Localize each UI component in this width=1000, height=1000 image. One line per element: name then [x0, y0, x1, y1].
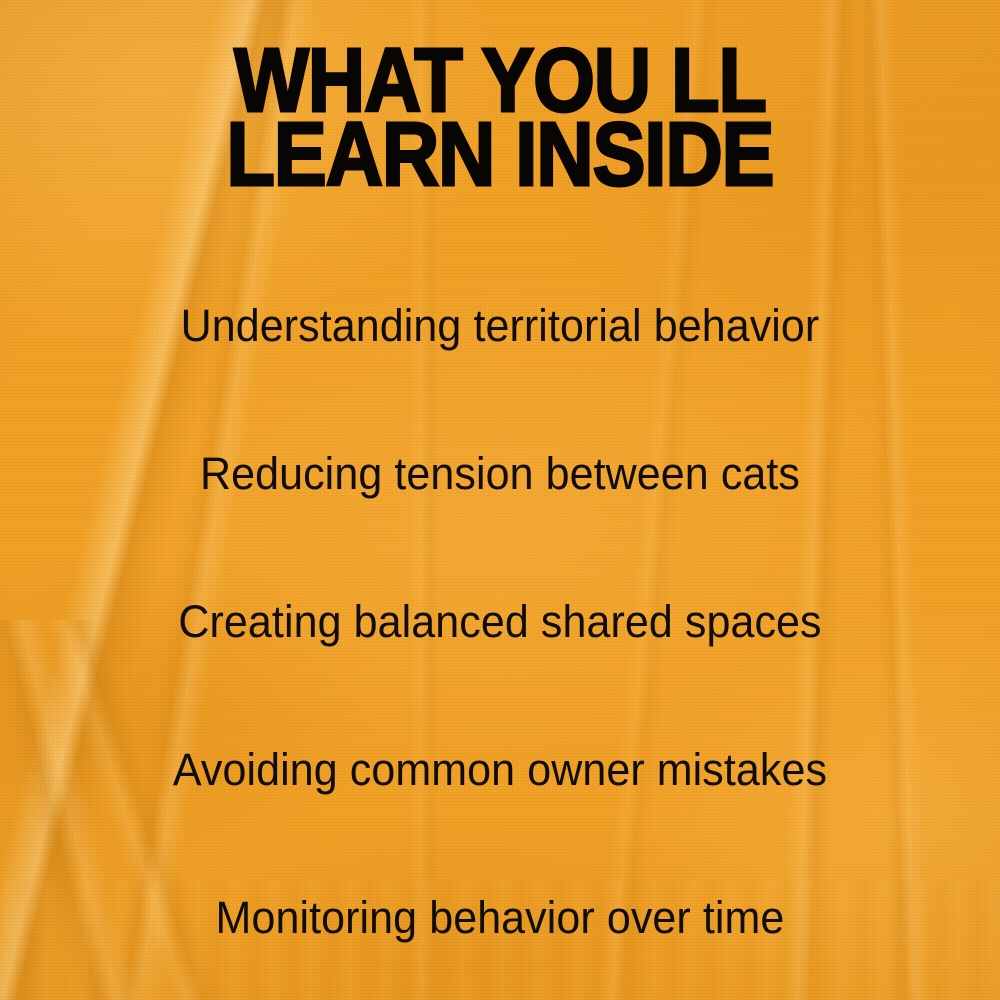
list-item: Monitoring behavior over time [23, 844, 978, 992]
list-item: Creating balanced shared spaces [23, 548, 978, 696]
list-item: Understanding territorial behavior [23, 252, 978, 400]
poster-content: WHAT YOU LL LEARN INSIDE Understanding t… [0, 0, 1000, 1000]
learn-inside-list: Understanding territorial behavior Reduc… [0, 252, 1000, 992]
list-item: Avoiding common owner mistakes [23, 696, 978, 844]
poster-canvas: WHAT YOU LL LEARN INSIDE Understanding t… [0, 0, 1000, 1000]
page-title: WHAT YOU LL LEARN INSIDE [0, 44, 1000, 184]
page-title-line-2: LEARN INSIDE [5, 118, 995, 192]
list-item: Reducing tension between cats [23, 400, 978, 548]
